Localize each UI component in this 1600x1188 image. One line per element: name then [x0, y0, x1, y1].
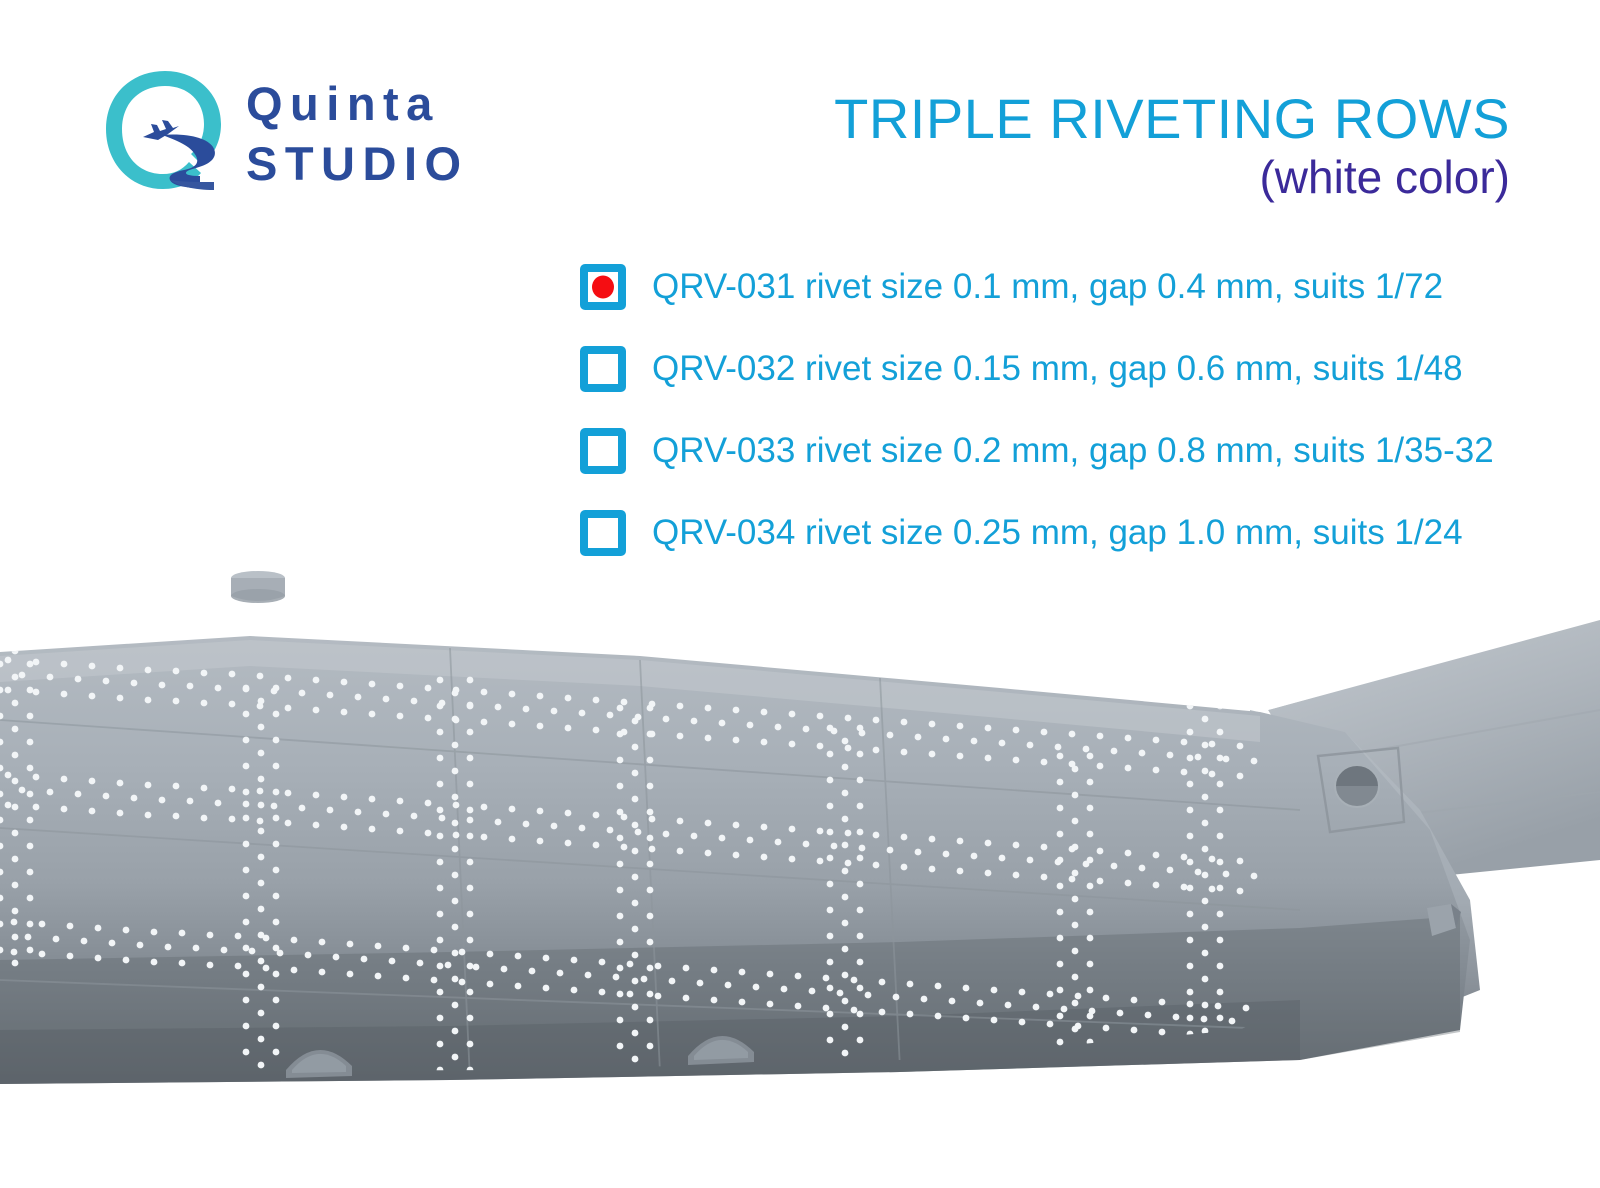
brand-logo: Quinta STUDIO	[96, 62, 566, 207]
brand-name-line2: STUDIO	[246, 134, 469, 194]
list-item-label: QRV-033 rivet size 0.2 mm, gap 0.8 mm, s…	[652, 431, 1494, 471]
quinta-q-swirl-jet-logo	[96, 62, 236, 202]
brand-name-line1: Quinta	[246, 74, 469, 134]
page-subtitle: (white color)	[1259, 150, 1510, 204]
list-item-label: QRV-032 rivet size 0.15 mm, gap 0.6 mm, …	[652, 349, 1463, 389]
list-item-label: QRV-034 rivet size 0.25 mm, gap 1.0 mm, …	[652, 513, 1463, 553]
list-item[interactable]: QRV-033 rivet size 0.2 mm, gap 0.8 mm, s…	[580, 410, 1540, 492]
checkbox-qrv-033[interactable]	[580, 428, 626, 474]
page-title: TRIPLE RIVETING ROWS	[834, 86, 1510, 151]
list-item-label: QRV-031 rivet size 0.1 mm, gap 0.4 mm, s…	[652, 267, 1443, 307]
antenna-base	[231, 571, 285, 603]
selected-dot-icon	[592, 276, 614, 299]
checkbox-qrv-034[interactable]	[580, 510, 626, 556]
brand-wordmark: Quinta STUDIO	[246, 74, 469, 194]
checkbox-qrv-032[interactable]	[580, 346, 626, 392]
product-label-page: Quinta STUDIO TRIPLE RIVETING ROWS (whit…	[0, 0, 1600, 1188]
product-photo	[0, 560, 1600, 1188]
list-item[interactable]: QRV-031 rivet size 0.1 mm, gap 0.4 mm, s…	[580, 246, 1540, 328]
list-item[interactable]: QRV-032 rivet size 0.15 mm, gap 0.6 mm, …	[580, 328, 1540, 410]
product-variant-list: QRV-031 rivet size 0.1 mm, gap 0.4 mm, s…	[580, 246, 1540, 574]
checkbox-qrv-031[interactable]	[580, 264, 626, 310]
